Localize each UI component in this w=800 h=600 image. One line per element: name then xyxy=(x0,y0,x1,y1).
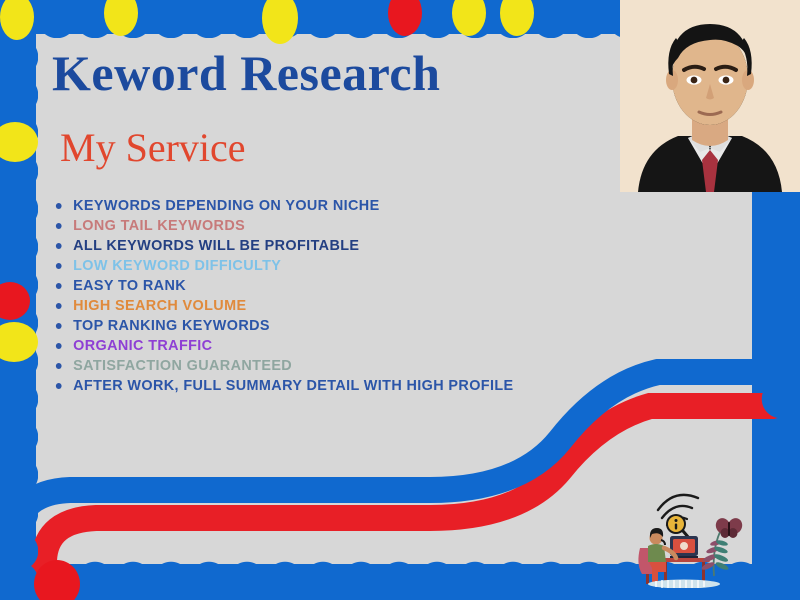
service-list-item-label: SATISFACTION GUARANTEED xyxy=(73,357,292,374)
service-list-item-label: KEYWORDS DEPENDING ON YOUR NICHE xyxy=(73,197,379,214)
service-list-item-label: LONG TAIL KEYWORDS xyxy=(73,217,245,234)
oval-red-bottom-1 xyxy=(34,560,80,600)
service-list-item: ORGANIC TRAFFIC xyxy=(52,336,590,356)
service-list-item-label: AFTER WORK, FULL SUMMARY DETAIL WITH HIG… xyxy=(73,377,513,394)
service-list-item: TOP RANKING KEYWORDS xyxy=(52,316,590,336)
service-list-item-label: ALL KEYWORDS WILL BE PROFITABLE xyxy=(73,237,359,254)
bullet-dot-icon xyxy=(56,363,62,369)
bullet-dot-icon xyxy=(56,243,62,249)
poster-canvas: Keword Research My Service KEYWORDS DEPE… xyxy=(0,0,800,600)
service-list: KEYWORDS DEPENDING ON YOUR NICHELONG TAI… xyxy=(52,196,612,396)
service-list-item: ALL KEYWORDS WILL BE PROFITABLE xyxy=(52,236,590,256)
bullet-dot-icon xyxy=(56,223,62,229)
page-title: Keword Research xyxy=(52,44,440,102)
bullet-dot-icon xyxy=(56,303,62,309)
service-list-item-label: EASY TO RANK xyxy=(73,277,186,294)
bullet-dot-icon xyxy=(56,383,62,389)
service-list-item: EASY TO RANK xyxy=(52,276,590,296)
service-list-item: HIGH SEARCH VOLUME xyxy=(52,296,590,316)
bullet-dot-icon xyxy=(56,203,62,209)
service-list-item: SATISFACTION GUARANTEED xyxy=(52,356,590,376)
info-icon xyxy=(675,519,678,522)
service-list-item-label: LOW KEYWORD DIFFICULTY xyxy=(73,257,281,274)
bullet-dot-icon xyxy=(56,343,62,349)
service-list-item-label: TOP RANKING KEYWORDS xyxy=(73,317,270,334)
service-list-item-label: HIGH SEARCH VOLUME xyxy=(73,297,246,314)
service-list-item-label: ORGANIC TRAFFIC xyxy=(73,337,212,354)
service-list-item: AFTER WORK, FULL SUMMARY DETAIL WITH HIG… xyxy=(52,376,590,396)
bullet-dot-icon xyxy=(56,323,62,329)
bullet-dot-icon xyxy=(56,283,62,289)
portrait-photo xyxy=(620,0,800,192)
service-list-item: LONG TAIL KEYWORDS xyxy=(52,216,590,236)
page-subtitle: My Service xyxy=(60,124,246,171)
desk-illustration xyxy=(628,468,748,588)
portrait-illustration xyxy=(620,0,800,192)
service-list-item: KEYWORDS DEPENDING ON YOUR NICHE xyxy=(52,196,590,216)
bullet-dot-icon xyxy=(56,263,62,269)
service-list-item: LOW KEYWORD DIFFICULTY xyxy=(52,256,590,276)
